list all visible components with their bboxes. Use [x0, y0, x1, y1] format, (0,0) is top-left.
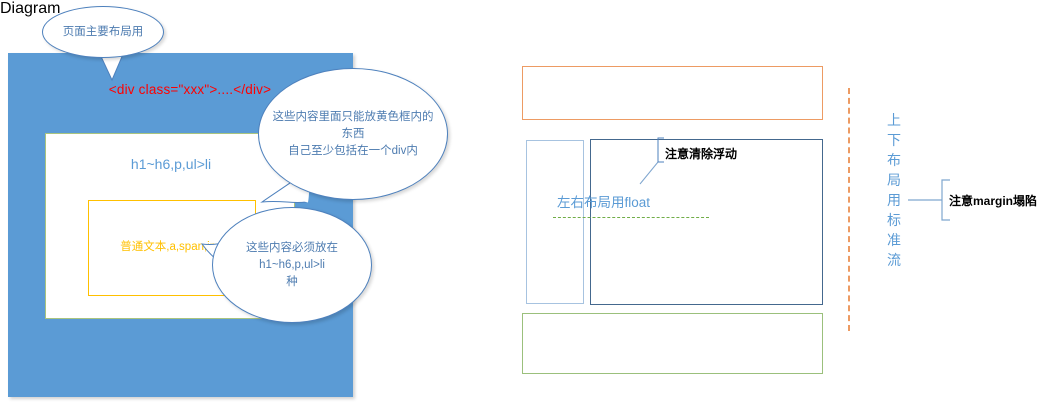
callout-yellow-box-content-text: 这些内容里面只能放黄色框内的东西 自己至少包括在一个div内	[259, 109, 447, 160]
normal-flow-label: 上下布局用标准流	[885, 110, 903, 270]
normal-flow-label-c2: 布	[885, 150, 903, 170]
normal-flow-label-c1: 下	[885, 130, 903, 150]
diagram-canvas: <div class="xxx">....</div> h1~h6,p,ul>l…	[0, 0, 1053, 405]
float-layout-label: 左右布局用float	[557, 191, 650, 211]
normal-flow-label-c5: 标	[885, 210, 903, 230]
callout-inline-content-text: 这些内容必须放在 h1~h6,p,ul>li 种	[213, 240, 371, 291]
margin-collapse-bracket	[908, 178, 954, 222]
callout-yellow-box-content: 这些内容里面只能放黄色框内的东西 自己至少包括在一个div内	[258, 68, 448, 200]
footer-box	[522, 313, 823, 374]
margin-collapse-note: 注意margin塌陷	[949, 192, 1037, 209]
div-code-text: <div class="xxx">....</div>	[95, 80, 285, 99]
normal-flow-dashed-line	[848, 88, 850, 331]
right-float-column	[590, 139, 823, 305]
callout-page-layout-text: 页面主要布局用	[43, 24, 163, 40]
callout-inline-content: 这些内容必须放在 h1~h6,p,ul>li 种	[212, 207, 372, 323]
normal-flow-label-c7: 流	[885, 250, 903, 270]
normal-flow-label-c6: 准	[885, 230, 903, 250]
callout-page-layout: 页面主要布局用	[42, 6, 164, 58]
normal-flow-label-c3: 局	[885, 170, 903, 190]
clear-float-note: 注意清除浮动	[665, 145, 737, 162]
normal-flow-label-c0: 上	[885, 110, 903, 130]
header-box	[522, 66, 823, 120]
normal-flow-label-c4: 用	[885, 190, 903, 210]
left-float-column	[526, 140, 584, 304]
clear-float-dashed-line	[553, 217, 709, 218]
